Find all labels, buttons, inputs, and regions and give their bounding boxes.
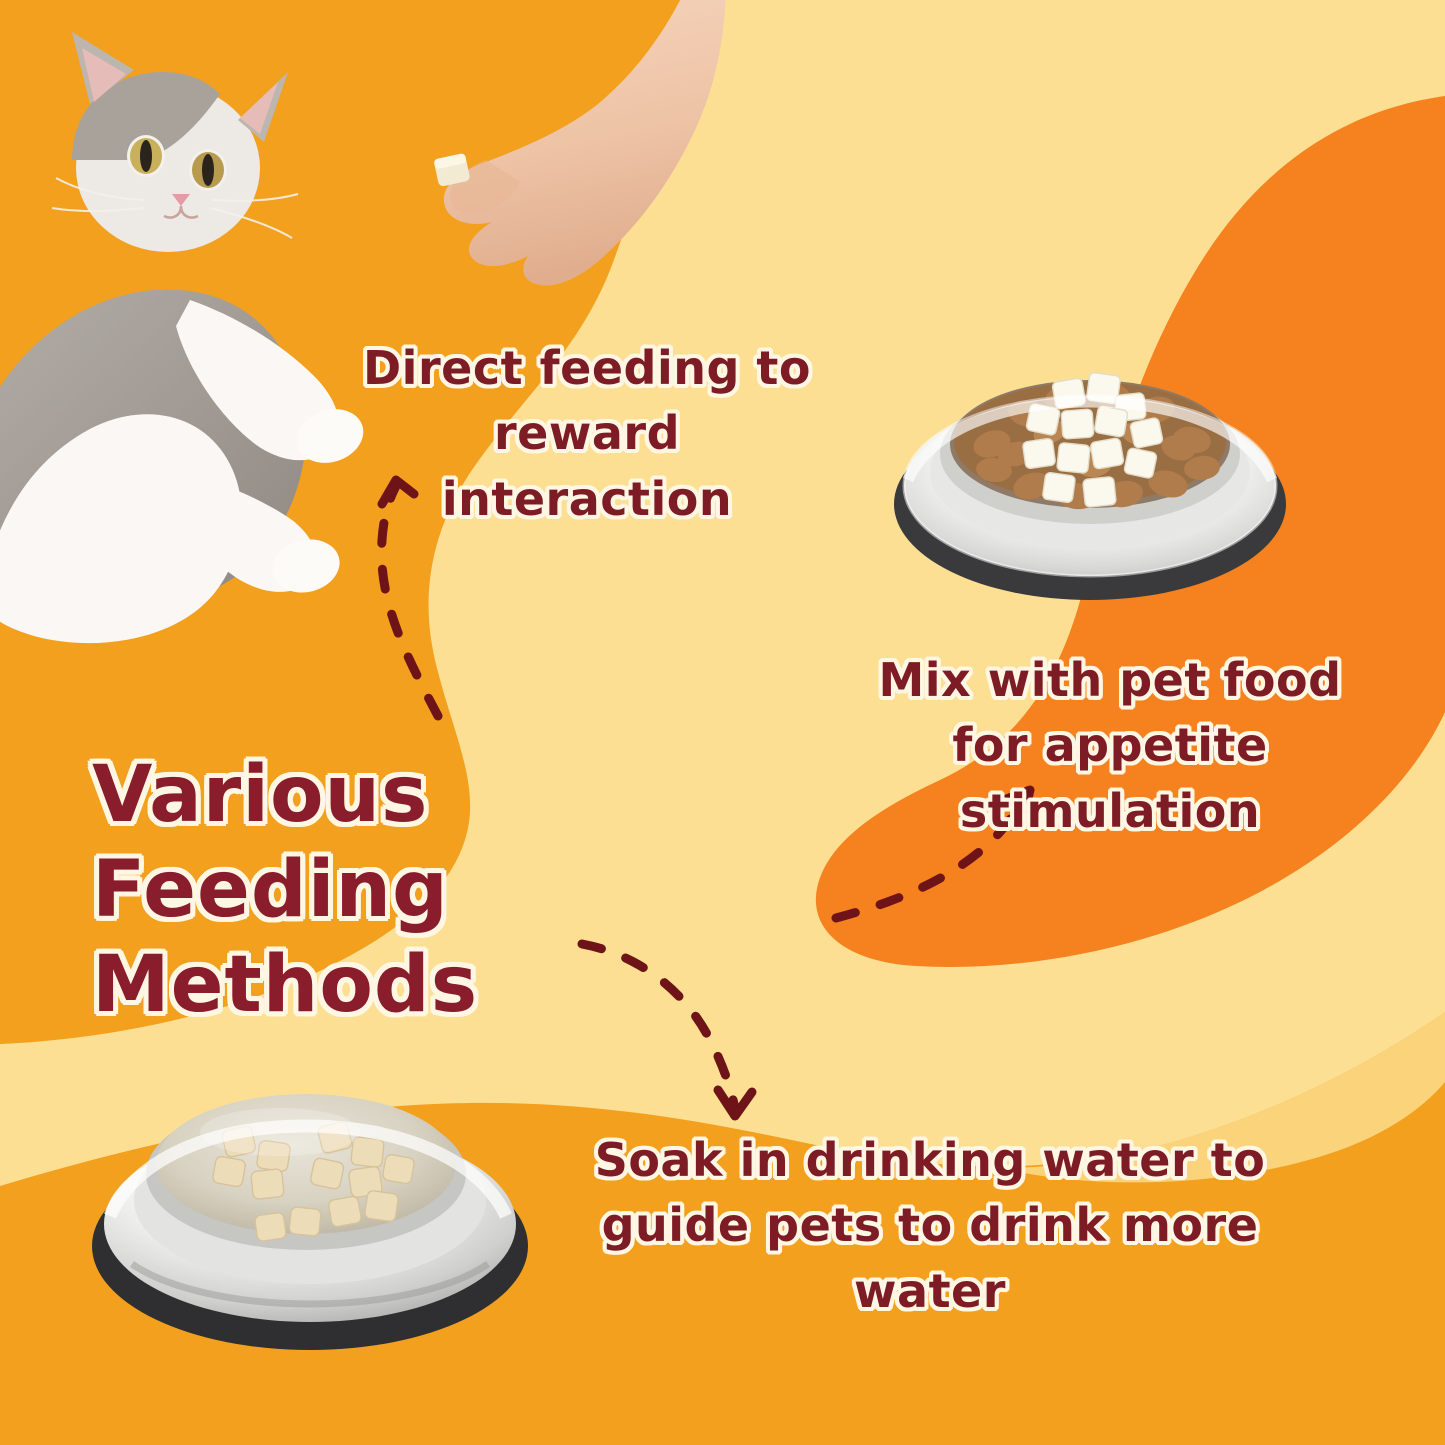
food-bowl-photo [880,270,1300,630]
cat-photo [0,40,370,570]
hand-photo [400,0,700,220]
water-bowl-photo [75,985,545,1360]
caption-mix-with-pet-food: Mix with pet food for appetite stimulati… [800,648,1420,844]
caption-soak-in-water: Soak in drinking water to guide pets to … [520,1128,1340,1324]
feeding-methods-infographic: Direct feeding to reward interaction Mix… [0,0,1445,1445]
caption-direct-feeding: Direct feeding to reward interaction [352,336,822,532]
page-title: Various Feeding Methods [92,748,852,1033]
